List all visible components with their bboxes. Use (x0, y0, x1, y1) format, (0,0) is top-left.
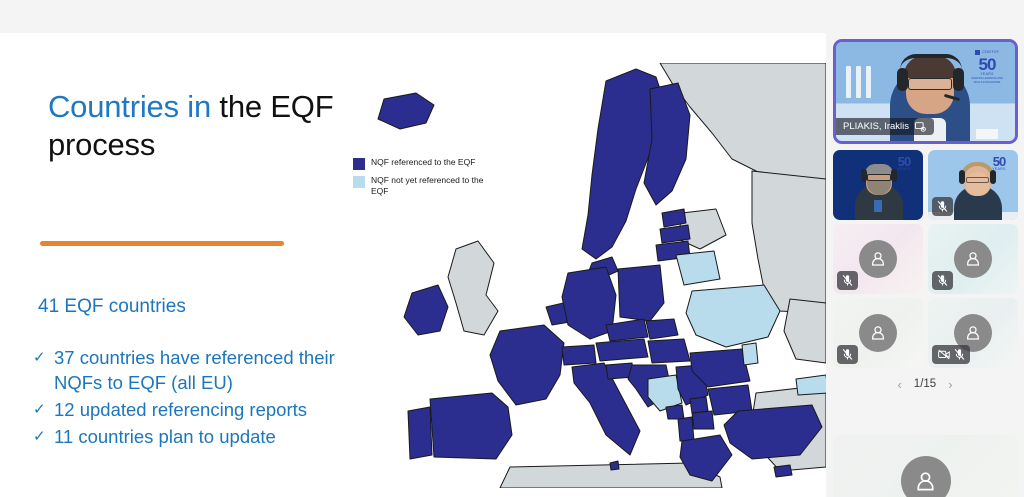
map-region-kosovo (690, 397, 708, 413)
headset-earcup-right-icon (953, 68, 964, 91)
person-icon (963, 323, 983, 343)
map-region-malta (610, 461, 619, 470)
camera-frame-a: 50 YEARS (833, 150, 923, 220)
person-icon (868, 323, 888, 343)
slide-lead-text: 41 EQF countries (38, 296, 186, 318)
status-badge (932, 345, 970, 364)
speaker-glasses (908, 78, 952, 90)
participant-tile-avatar-3[interactable] (833, 298, 923, 368)
bullet-text: 11 countries plan to update (54, 424, 363, 449)
europe-map (360, 63, 826, 488)
participant-tile-camera-a[interactable]: 50 YEARS (833, 150, 923, 220)
participant-tile-avatar-2[interactable] (928, 224, 1018, 294)
check-icon: ✓ (33, 424, 47, 449)
map-region-uk (448, 241, 498, 335)
camera-off-icon (938, 349, 950, 360)
list-item: ✓ 11 countries plan to update (33, 424, 363, 449)
map-region-switzerland (562, 345, 596, 365)
avatar (859, 240, 897, 278)
map-region-slovakia (646, 319, 678, 339)
list-item: ✓ 37 countries have referenced their NQF… (33, 345, 363, 395)
map-region-poland (618, 265, 664, 321)
participant-tile-avatar-4[interactable] (928, 298, 1018, 368)
map-region-moldova (742, 343, 758, 365)
map-region-belarus (676, 251, 720, 285)
background-blinds (846, 66, 871, 98)
window-top-chrome (0, 0, 1024, 33)
map-region-albania (678, 417, 694, 441)
participant-rail: CEDEFOP 50 YEARS SHAPING LEARNING AND SK… (826, 33, 1024, 497)
status-badge (837, 345, 858, 364)
map-region-ireland (404, 285, 448, 335)
status-badge (837, 271, 858, 290)
avatar (859, 314, 897, 352)
headset-earcup-left-icon (897, 68, 908, 91)
screen-share-icon (915, 122, 926, 132)
shared-slide-stage[interactable]: Countries in the EQF process 41 EQF coun… (0, 33, 826, 497)
check-icon: ✓ (33, 345, 47, 370)
camera-frame-b: 50 YEARS (928, 150, 1018, 220)
map-region-austria (596, 339, 648, 361)
speaker-name-chip: PLIAKIS, Iraklis (836, 118, 934, 135)
participant-tile-wide[interactable] (833, 435, 1018, 497)
mic-off-icon (937, 274, 948, 287)
slide-title: Countries in the EQF process (48, 88, 368, 164)
map-region-cyprus (774, 465, 792, 477)
bullet-text: 37 countries have referenced their NQFs … (54, 345, 363, 395)
headset-earcup-left-icon (861, 169, 867, 182)
map-region-spain (430, 393, 512, 459)
participant-tile-avatar-1[interactable] (833, 224, 923, 294)
logo-years: YEARS (984, 168, 1014, 171)
mic-off-icon (842, 348, 853, 361)
europe-map-svg (360, 63, 826, 488)
pager-next-button[interactable]: › (948, 377, 952, 392)
map-region-montenegro (666, 405, 684, 419)
avatar (901, 456, 951, 497)
status-badge (932, 197, 953, 216)
person-icon (963, 249, 983, 269)
participant-glasses (867, 174, 891, 181)
speaker-video-frame: CEDEFOP 50 YEARS SHAPING LEARNING AND SK… (836, 42, 1015, 141)
list-item: ✓ 12 updated referencing reports (33, 397, 363, 422)
presentation-slide: Countries in the EQF process 41 EQF coun… (0, 33, 826, 465)
logo-years: YEARS (967, 73, 1007, 76)
slide-title-highlight: Countries in (48, 89, 211, 124)
map-region-iceland (378, 93, 434, 129)
cedefop-50-years-logo: CEDEFOP 50 YEARS SHAPING LEARNING AND SK… (967, 50, 1007, 88)
participant-pager: ‹ 1/15 › (826, 371, 1024, 397)
map-region-nmacedonia (692, 411, 714, 429)
status-badge (932, 271, 953, 290)
slide-bullet-list: ✓ 37 countries have referenced their NQF… (33, 345, 363, 451)
title-divider-rule (40, 241, 284, 246)
map-region-france (490, 325, 564, 405)
participant-tile-camera-b[interactable]: 50 YEARS (928, 150, 1018, 220)
avatar (954, 240, 992, 278)
mic-off-icon (842, 274, 853, 287)
map-region-georgia (796, 375, 826, 395)
participant-lanyard (874, 200, 882, 212)
map-region-portugal (408, 407, 432, 459)
logo-subtitle: SHAPING LEARNING AND SKILLS FOR EUROPE (967, 77, 1007, 83)
headset-earcup-left-icon (959, 170, 965, 184)
person-icon (868, 249, 888, 269)
check-icon: ✓ (33, 397, 47, 422)
cedefop-50-years-logo: 50 YEARS (889, 154, 919, 182)
pager-label: 1/15 (914, 378, 936, 390)
bullet-text: 12 updated referencing reports (54, 397, 363, 422)
map-region-kazakh (784, 299, 826, 363)
map-region-hungary (648, 339, 690, 363)
logo-caption: CEDEFOP (982, 51, 999, 54)
person-icon (912, 468, 939, 495)
pager-prev-button[interactable]: ‹ (897, 377, 901, 392)
logo-number: 50 (967, 56, 1007, 73)
mic-off-icon (937, 200, 948, 213)
active-speaker-tile[interactable]: CEDEFOP 50 YEARS SHAPING LEARNING AND SK… (833, 39, 1018, 144)
mic-off-icon (954, 348, 965, 361)
map-region-ukraine (686, 285, 780, 347)
meeting-screen-share-window: Countries in the EQF process 41 EQF coun… (0, 0, 1024, 497)
logo-years: YEARS (889, 168, 919, 171)
cedefop-50-years-logo: 50 YEARS (984, 154, 1014, 182)
headset-band-icon (900, 54, 962, 70)
map-region-finland (644, 83, 690, 205)
speaker-name-label: PLIAKIS, Iraklis (843, 121, 909, 132)
